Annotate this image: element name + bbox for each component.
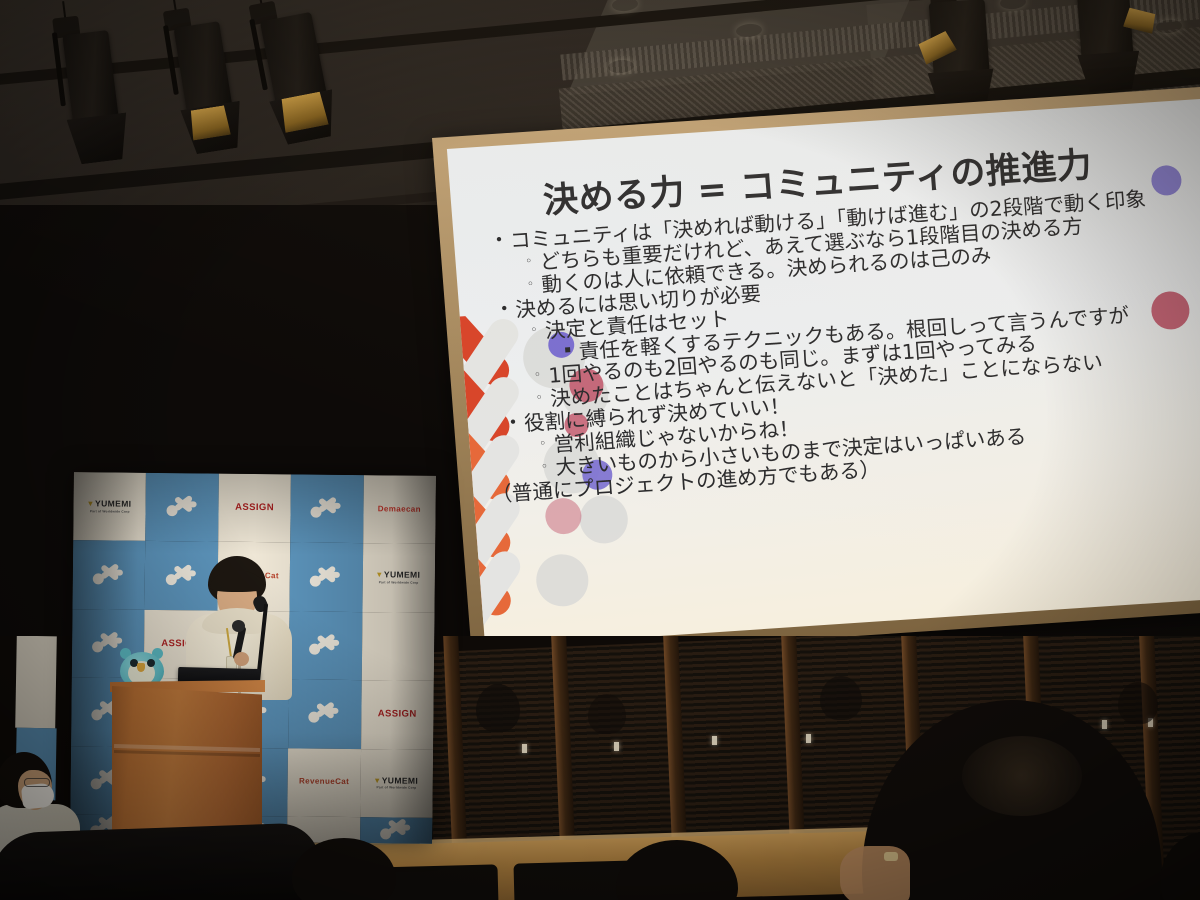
ring-icon (884, 852, 898, 861)
mascot-eye (147, 659, 155, 667)
bullet-marker: ◦ (517, 252, 540, 270)
wall-marker-light (614, 742, 619, 751)
wall-marker-light (522, 744, 527, 753)
hair-highlight (962, 736, 1082, 816)
bullet-marker: ▪ (556, 341, 579, 358)
wall-marker-light (1102, 720, 1107, 729)
foreground-dark-coat (0, 822, 321, 900)
bullet-marker: ◦ (526, 366, 549, 384)
audience-head-silhouette (820, 676, 862, 720)
bullet-marker: ◦ (522, 321, 545, 339)
backdrop-edge-tile (15, 636, 57, 728)
audience-head-silhouette (588, 694, 626, 734)
eyeglasses-icon (24, 778, 50, 787)
conference-photo-scene: 決める力 = コミュニティの推進力 •コミュニティは「決めれば動ける」「動けば進… (0, 0, 1200, 900)
slide-bullet-list: •コミュニティは「決めれば動ける」「動けば進む」の2段階で動く印象◦どちらも重要… (471, 183, 1200, 507)
speaker-hand (234, 652, 249, 666)
bullet-marker: ◦ (531, 435, 554, 453)
wall-marker-light (712, 736, 717, 745)
audience-head-silhouette (1118, 682, 1158, 724)
foreground-hand (840, 846, 910, 900)
wall-marker-light (806, 734, 811, 743)
bullet-marker: ◦ (533, 458, 556, 476)
mascot-beak (137, 663, 145, 672)
bullet-marker: • (493, 300, 516, 318)
audience-head-silhouette (476, 684, 520, 732)
bullet-marker: • (501, 414, 524, 432)
projection-screen-assembly: 決める力 = コミュニティの推進力 •コミュニティは「決めれば動ける」「動けば進… (432, 86, 1200, 662)
projected-slide: 決める力 = コミュニティの推進力 •コミュニティは「決めれば動ける」「動けば進… (447, 99, 1200, 648)
microphone-head-icon (232, 620, 245, 632)
bullet-marker: ◦ (528, 389, 551, 407)
bullet-marker: • (487, 231, 510, 249)
bullet-marker: ◦ (519, 275, 542, 293)
